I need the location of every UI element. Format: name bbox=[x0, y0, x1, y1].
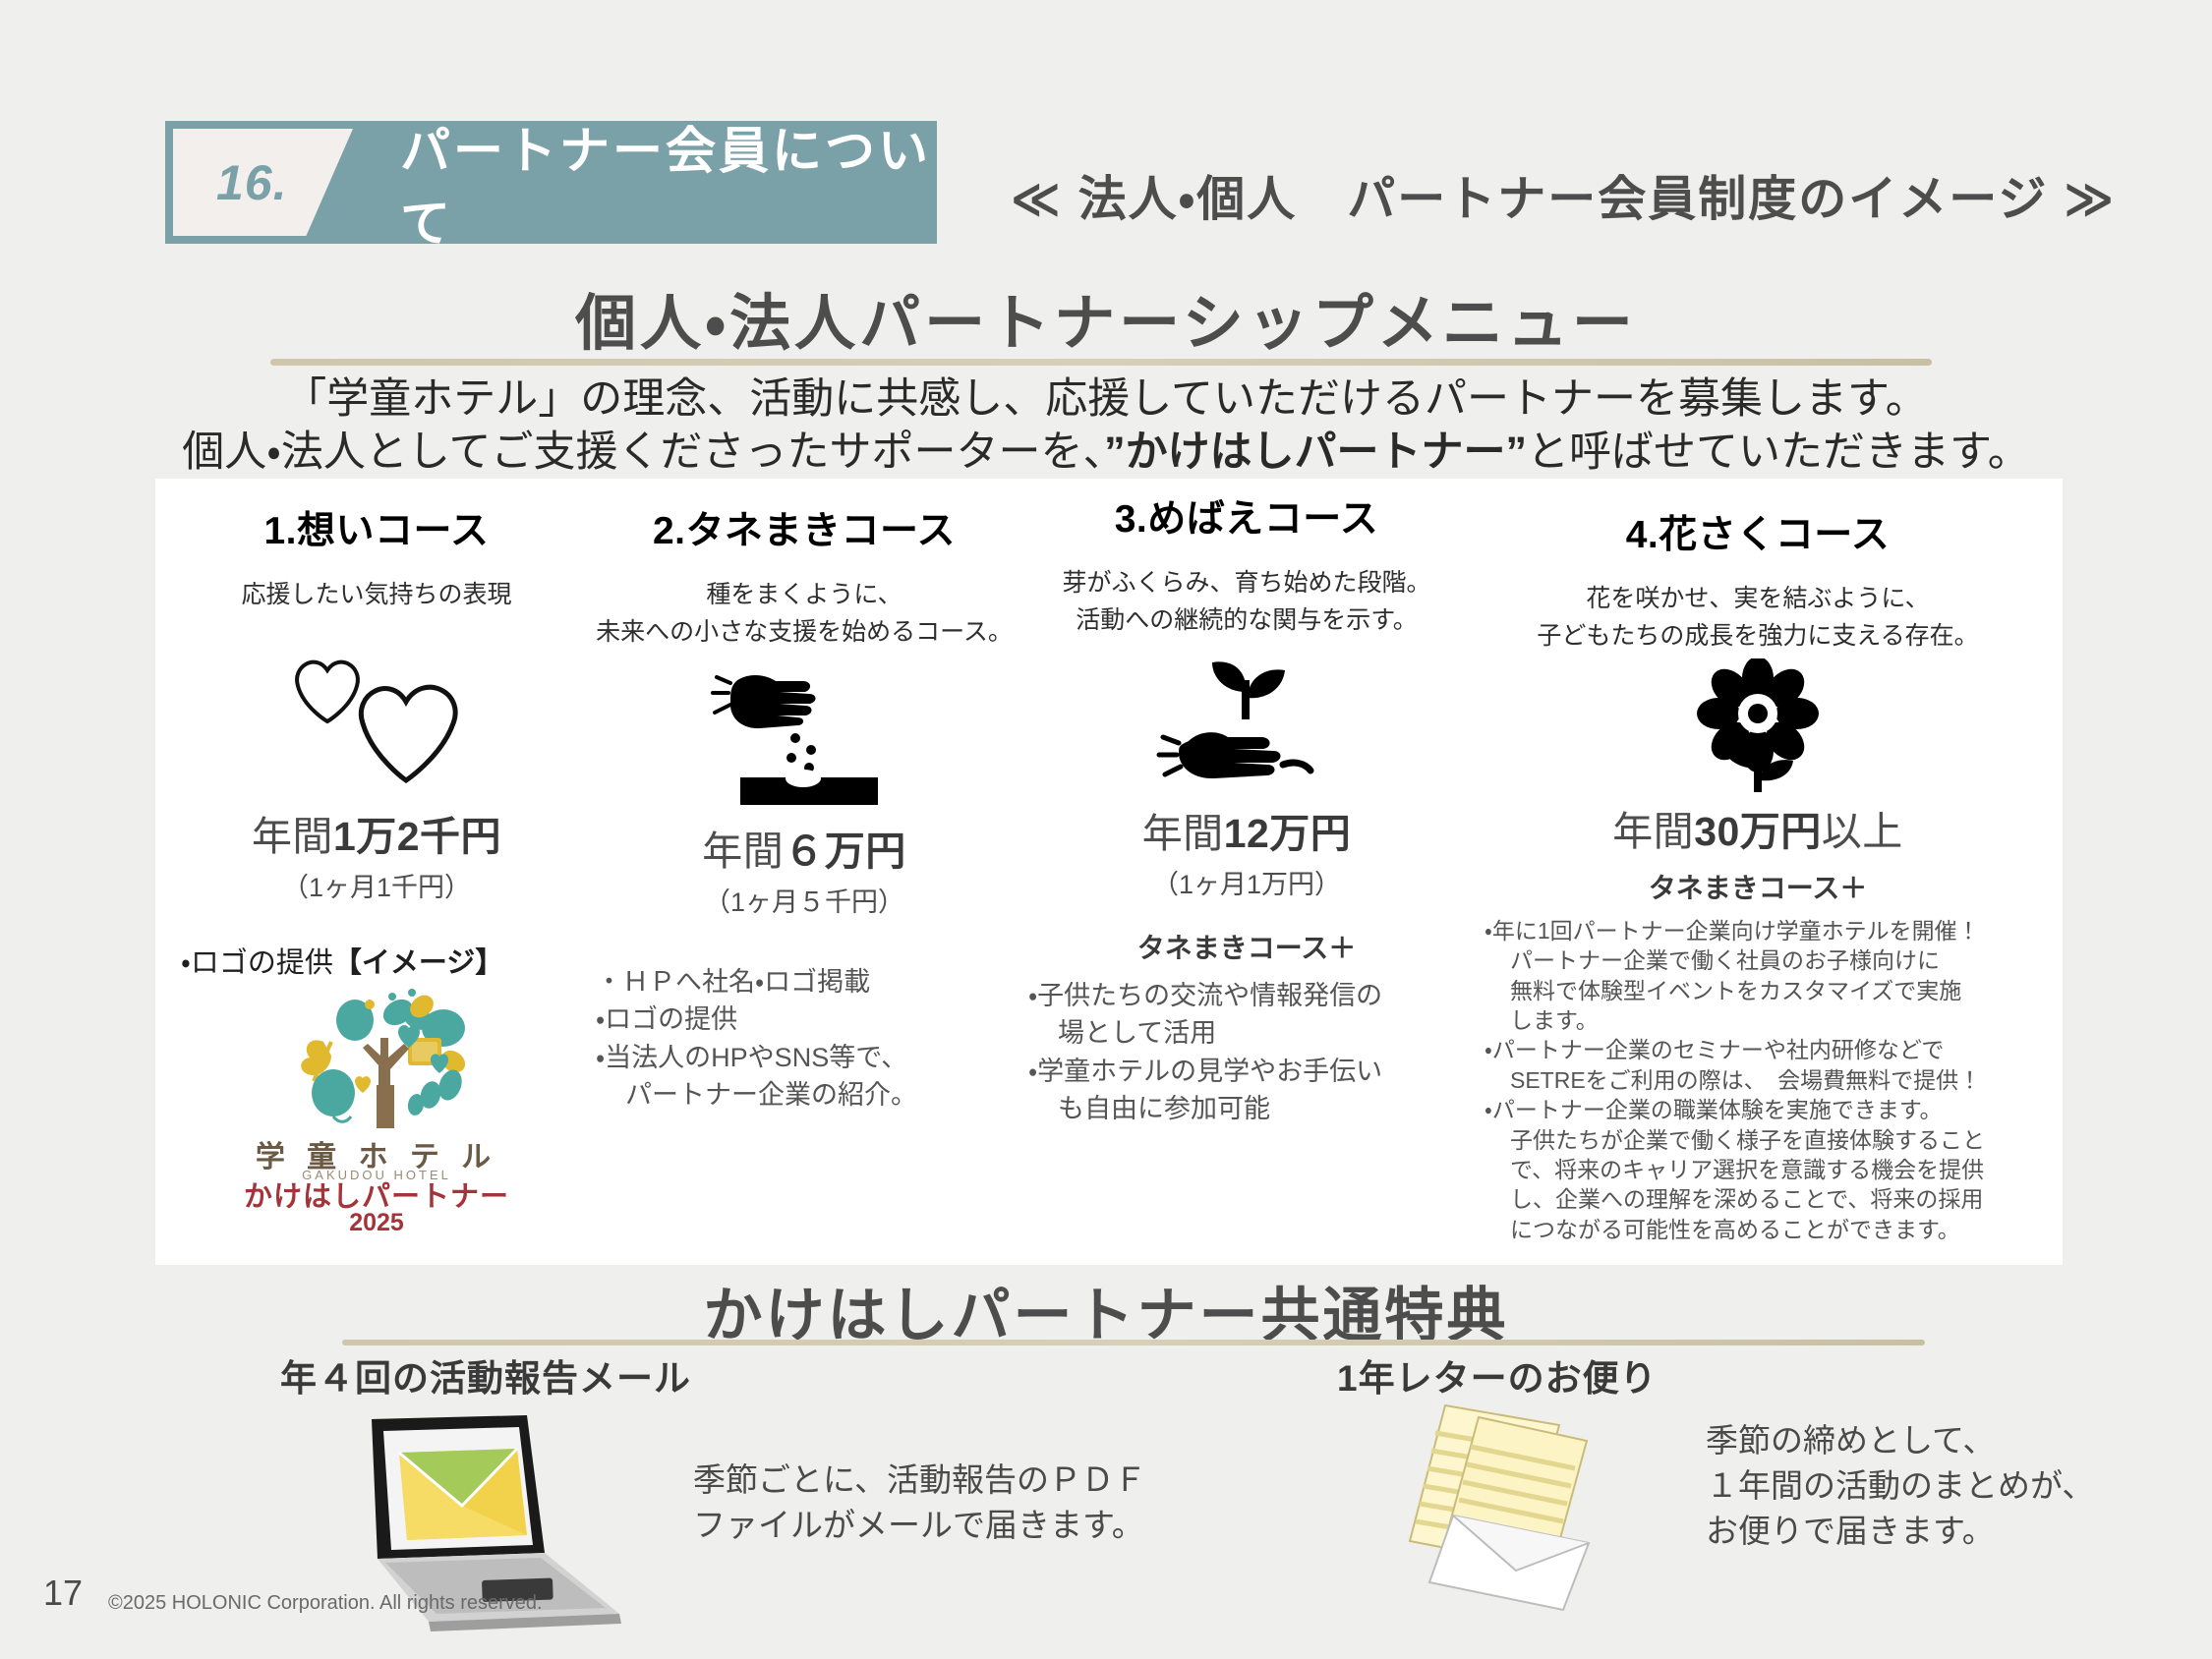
letter-icon bbox=[1376, 1396, 1681, 1617]
list-item: ・当法人のHPやSNS等で、 bbox=[596, 1040, 1030, 1075]
list-item: し、企業への理解を深めることで、将来の採用 bbox=[1484, 1184, 2053, 1214]
section-title: パートナー会員について bbox=[353, 121, 937, 244]
course-4-desc-line-1: 花を咲かせ、実を結ぶように、 bbox=[1463, 581, 2053, 618]
course-3-price-monthly: （1ヶ月1万円） bbox=[1020, 863, 1473, 901]
course-column-3: 3.めばえコース 芽がふくらみ、育ち始めた段階。 活動への継続的な関与を示す。 … bbox=[1020, 479, 1473, 1129]
list-item: で、将来のキャリア選択を意識する機会を提供 bbox=[1484, 1155, 2053, 1184]
course-1-price-monthly: （1ヶ月1千円） bbox=[165, 866, 588, 904]
intro-line-2-b: と呼ばせていただきます。 bbox=[1527, 429, 2030, 476]
intro-line-2: 個人・法人としてご支援くださったサポーターを、”かけはしパートナー”と呼ばせてい… bbox=[0, 427, 2212, 480]
course-4-price: 年間30万円以上 bbox=[1463, 798, 2053, 857]
course-1-price-prefix: 年間 bbox=[252, 814, 333, 859]
course-3-plus-heading: タネまきコース＋ bbox=[1020, 927, 1473, 966]
course-4-bullets: ・年に1回パートナー企業向け学童ホテルを開催！ パートナー企業で働く社員のお子様… bbox=[1463, 916, 2053, 1244]
course-3-price-prefix: 年間 bbox=[1142, 811, 1224, 856]
list-item: します。 bbox=[1484, 1005, 2053, 1035]
list-item: につながる可能性を高めることができます。 bbox=[1484, 1215, 2053, 1244]
section-number-chip: 16. bbox=[173, 129, 353, 236]
benefit-1-text-line-2: ファイルがメールで届きます。 bbox=[693, 1503, 1146, 1548]
course-1-logo-label: ・ロゴの提供【イメージ】 bbox=[165, 940, 588, 981]
course-3-title: 3.めばえコース bbox=[1020, 488, 1473, 543]
title-divider bbox=[270, 359, 1932, 366]
course-2-desc-line-2: 未来への小さな支援を始めるコース。 bbox=[578, 614, 1030, 652]
course-3-price-amount: 12万円 bbox=[1224, 811, 1352, 856]
section-number: 16. bbox=[216, 154, 288, 211]
copyright-notice: ©2025 HOLONIC Corporation. All rights re… bbox=[108, 1592, 543, 1615]
course-1-price: 年間1万2千円 bbox=[165, 803, 588, 862]
logo-year: 2025 bbox=[229, 1209, 524, 1237]
course-1-price-amount: 1万2千円 bbox=[333, 814, 501, 859]
course-2-price-prefix: 年間 bbox=[702, 829, 784, 874]
course-1-title: 1.想いコース bbox=[165, 500, 588, 555]
gakudou-hotel-logo: 学 童 ホ テ ル GAKUDOU HOTEL かけはしパートナー 2025 bbox=[229, 987, 524, 1232]
list-item: 子供たちが企業で働く様子を直接体験すること bbox=[1484, 1125, 2053, 1155]
list-item: も自由に参加可能 bbox=[1028, 1091, 1473, 1126]
course-4-desc-line-2: 子どもたちの成長を強力に支える存在。 bbox=[1463, 618, 2053, 656]
benefit-2-text-line-3: お便りで届きます。 bbox=[1706, 1509, 2094, 1554]
benefit-1-heading: 年４回の活動報告メール bbox=[280, 1348, 691, 1402]
sowing-hand-icon bbox=[578, 660, 1030, 808]
benefit-1-text-line-1: 季節ごとに、活動報告のＰＤＦ bbox=[693, 1458, 1146, 1503]
course-3-price: 年間12万円 bbox=[1020, 800, 1473, 859]
list-item: パートナー企業の紹介。 bbox=[596, 1077, 1030, 1113]
course-2-price-amount: ６万円 bbox=[784, 829, 906, 874]
list-item: 無料で体験型イベントをカスタマイズで実施 bbox=[1484, 976, 2053, 1005]
course-3-desc-line-1: 芽がふくらみ、育ち始めた段階。 bbox=[1020, 565, 1473, 602]
hearts-icon bbox=[165, 632, 588, 789]
benefit-2-text-line-2: １年間の活動のまとめが、 bbox=[1706, 1463, 2094, 1509]
list-item: ・ロゴの提供 bbox=[596, 1001, 1030, 1037]
course-1-logo-label-emphasis: 【イメージ】 bbox=[333, 947, 503, 979]
list-item: ・学童ホテルの見学やお手伝い bbox=[1028, 1054, 1473, 1089]
list-item: ・子供たちの交流や情報発信の bbox=[1028, 978, 1473, 1013]
course-column-2: 2.タネまきコース 種をまくように、 未来への小さな支援を始めるコース。 年間６… bbox=[578, 479, 1030, 1116]
course-2-price-monthly: （1ヶ月５千円） bbox=[578, 881, 1030, 919]
sprout-hand-icon bbox=[1020, 647, 1473, 794]
list-item: SETREをご利用の際は、 会場費無料で提供！ bbox=[1484, 1065, 2053, 1095]
course-1-description: 応援したい気持ちの表現 bbox=[165, 577, 588, 614]
course-2-title: 2.タネまきコース bbox=[578, 500, 1030, 555]
benefit-2-text-line-1: 季節の締めとして、 bbox=[1706, 1418, 2094, 1463]
course-column-4: 4.花さくコース 花を咲かせ、実を結ぶように、 子どもたちの成長を強力に支える存… bbox=[1463, 479, 2053, 1244]
course-4-plus-heading: タネまきコース＋ bbox=[1463, 867, 2053, 906]
course-4-price-amount: 30万円 bbox=[1694, 809, 1822, 854]
header-right-caption: ≪ 法人・個人 パートナー会員制度のイメージ ≫ bbox=[1003, 160, 2124, 230]
list-item: ・年に1回パートナー企業向け学童ホテルを開催！ bbox=[1484, 916, 2053, 945]
intro-paragraph: 「学童ホテル」の理念、活動に共感し、応援していただけるパートナーを募集します。 … bbox=[0, 373, 2212, 480]
benefit-2-heading: 1年レターのお便り bbox=[1337, 1348, 1658, 1402]
course-2-desc-line-1: 種をまくように、 bbox=[578, 577, 1030, 614]
page-number: 17 bbox=[43, 1573, 83, 1614]
flower-icon bbox=[1463, 658, 2053, 796]
list-item: ・ＨＰへ社名・ロゴ掲載 bbox=[596, 964, 1030, 1000]
course-3-bullets: ・子供たちの交流や情報発信の 場として活用 ・学童ホテルの見学やお手伝い も自由… bbox=[1020, 978, 1473, 1127]
list-item: ・パートナー企業のセミナーや社内研修などで bbox=[1484, 1035, 2053, 1064]
course-1-logo-label-text: ・ロゴの提供 bbox=[181, 947, 333, 979]
intro-line-2-emphasis: ”かけはしパートナー” bbox=[1104, 429, 1527, 476]
benefit-2-text: 季節の締めとして、 １年間の活動のまとめが、 お便りで届きます。 bbox=[1706, 1418, 2094, 1555]
logo-tree-icon bbox=[229, 987, 524, 1144]
course-1-desc-line-1: 応援したい気持ちの表現 bbox=[165, 577, 588, 614]
courses-panel: 1.想いコース 応援したい気持ちの表現 年間1万2千円 （1ヶ月1千円） ・ロゴ… bbox=[155, 479, 2063, 1265]
course-2-description: 種をまくように、 未来への小さな支援を始めるコース。 bbox=[578, 577, 1030, 651]
course-4-description: 花を咲かせ、実を結ぶように、 子どもたちの成長を強力に支える存在。 bbox=[1463, 581, 2053, 655]
course-4-price-suffix: 以上 bbox=[1822, 809, 1903, 854]
intro-line-2-a: 個人・法人としてご支援くださったサポーターを、 bbox=[182, 429, 1104, 476]
course-2-bullets: ・ＨＰへ社名・ロゴ掲載 ・ロゴの提供 ・当法人のHPやSNS等で、 パートナー企… bbox=[578, 964, 1030, 1114]
course-3-description: 芽がふくらみ、育ち始めた段階。 活動への継続的な関与を示す。 bbox=[1020, 565, 1473, 639]
list-item: ・パートナー企業の職業体験を実施できます。 bbox=[1484, 1095, 2053, 1124]
intro-line-1: 「学童ホテル」の理念、活動に共感し、応援していただけるパートナーを募集します。 bbox=[0, 373, 2212, 427]
list-item: 場として活用 bbox=[1028, 1015, 1473, 1051]
benefit-1-text: 季節ごとに、活動報告のＰＤＦ ファイルがメールで届きます。 bbox=[693, 1458, 1146, 1548]
common-benefits-divider bbox=[342, 1340, 1925, 1345]
course-column-1: 1.想いコース 応援したい気持ちの表現 年間1万2千円 （1ヶ月1千円） ・ロゴ… bbox=[165, 479, 588, 1232]
course-4-price-prefix: 年間 bbox=[1612, 809, 1694, 854]
course-2-price: 年間６万円 bbox=[578, 818, 1030, 877]
page-title: 個人・法人パートナーシップメニュー bbox=[0, 273, 2212, 362]
course-4-title: 4.花さくコース bbox=[1463, 504, 2053, 559]
list-item: パートナー企業で働く社員のお子様向けに bbox=[1484, 945, 2053, 975]
course-3-desc-line-2: 活動への継続的な関与を示す。 bbox=[1020, 602, 1473, 640]
slide-header-band: 16. パートナー会員について bbox=[165, 121, 937, 244]
